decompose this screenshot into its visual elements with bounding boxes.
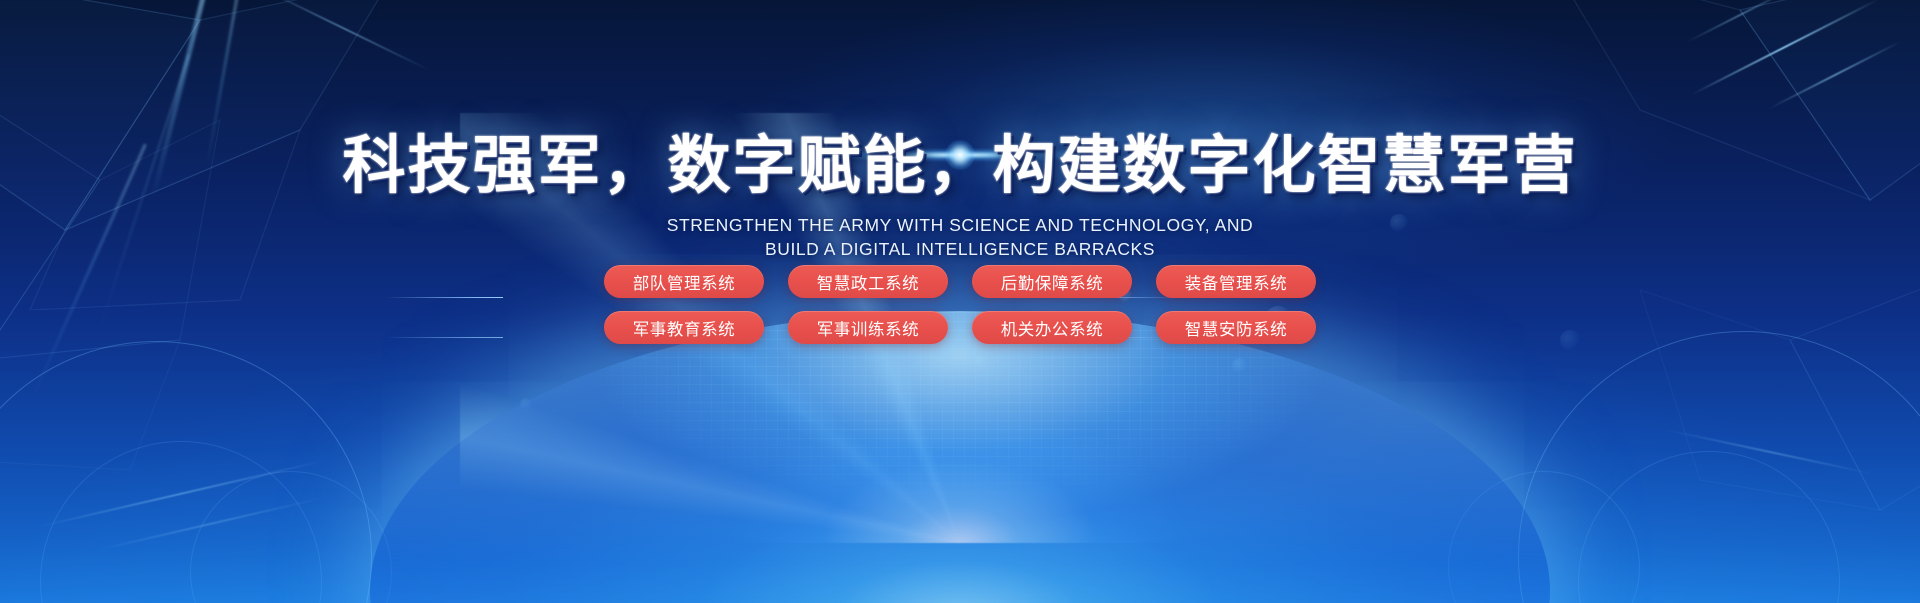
system-pill-button[interactable]: 机关办公系统 <box>972 311 1132 344</box>
subtitle-line-1: STRENGTHEN THE ARMY WITH SCIENCE AND TEC… <box>667 215 1253 235</box>
system-pill-button[interactable]: 军事训练系统 <box>788 311 948 344</box>
system-pill-button[interactable]: 装备管理系统 <box>1156 265 1316 298</box>
system-pill-grid: 部队管理系统 智慧政工系统 后勤保障系统 装备管理系统 军事教育系统 军事训练系… <box>0 265 1920 357</box>
page-title: 科技强军，数字赋能，构建数字化智慧军营 <box>0 133 1920 199</box>
system-pill-button[interactable]: 部队管理系统 <box>604 265 764 298</box>
system-pill-row-2: 军事教育系统 军事训练系统 机关办公系统 智慧安防系统 <box>0 311 1920 344</box>
system-pill-button[interactable]: 军事教育系统 <box>604 311 764 344</box>
system-pill-button[interactable]: 智慧政工系统 <box>788 265 948 298</box>
system-pill-button[interactable]: 智慧安防系统 <box>1156 311 1316 344</box>
page-subtitle: STRENGTHEN THE ARMY WITH SCIENCE AND TEC… <box>0 213 1920 261</box>
subtitle-line-2: BUILD A DIGITAL INTELLIGENCE BARRACKS <box>0 237 1920 261</box>
hero-banner: 科技强军，数字赋能，构建数字化智慧军营 STRENGTHEN THE ARMY … <box>0 0 1920 603</box>
banner-content: 科技强军，数字赋能，构建数字化智慧军营 STRENGTHEN THE ARMY … <box>0 0 1920 603</box>
system-pill-button[interactable]: 后勤保障系统 <box>972 265 1132 298</box>
system-pill-row-1: 部队管理系统 智慧政工系统 后勤保障系统 装备管理系统 <box>0 265 1920 298</box>
